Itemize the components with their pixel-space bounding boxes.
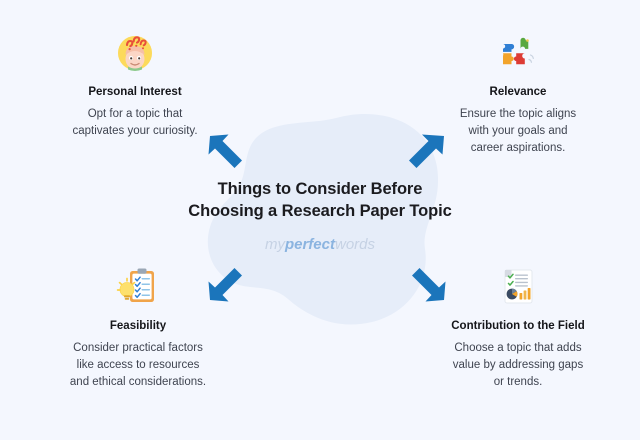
item-feasibility: Feasibility Consider practical factors l… xyxy=(43,262,233,391)
item-desc-line1: Consider practical factors xyxy=(73,342,203,354)
item-title: Relevance xyxy=(423,86,613,100)
item-desc-line2: captivates your curiosity. xyxy=(72,125,197,137)
item-contribution: Contribution to the Field Choose a topic… xyxy=(423,262,613,391)
item-title: Contribution to the Field xyxy=(423,320,613,334)
clipboard-lightbulb-icon xyxy=(114,262,162,310)
item-description: Ensure the topic aligns with your goals … xyxy=(423,106,613,157)
page-title-line1: Things to Consider Before xyxy=(218,180,423,198)
thinking-face-icon xyxy=(111,28,159,76)
page-title-line2: Choosing a Research Paper Topic xyxy=(188,202,451,220)
page-title: Things to Consider Before Choosing a Res… xyxy=(160,178,480,223)
item-description: Choose a topic that adds value by addres… xyxy=(423,340,613,391)
logo-my: my xyxy=(265,236,285,253)
item-desc-line2: with your goals and xyxy=(468,125,567,137)
puzzle-pieces-icon xyxy=(494,28,542,76)
item-desc-line3: and ethical considerations. xyxy=(70,376,206,388)
item-desc-line3: career aspirations. xyxy=(471,142,566,154)
item-desc-line2: like access to resources xyxy=(77,359,200,371)
item-description: Consider practical factors like access t… xyxy=(43,340,233,391)
item-desc-line1: Choose a topic that adds xyxy=(454,342,581,354)
item-desc-line1: Ensure the topic aligns xyxy=(460,108,576,120)
infographic-canvas: Things to Consider Before Choosing a Res… xyxy=(0,0,640,440)
item-title: Feasibility xyxy=(43,320,233,334)
item-relevance: Relevance Ensure the topic aligns with y… xyxy=(423,28,613,157)
center-heading-block: Things to Consider Before Choosing a Res… xyxy=(160,178,480,252)
item-description: Opt for a topic that captivates your cur… xyxy=(40,106,230,140)
item-personal-interest: Personal Interest Opt for a topic that c… xyxy=(40,28,230,140)
logo-perfect: perfect xyxy=(285,236,335,253)
item-title: Personal Interest xyxy=(40,86,230,100)
item-desc-line3: or trends. xyxy=(494,376,543,388)
logo-words: words xyxy=(335,236,375,253)
item-desc-line2: value by addressing gaps xyxy=(453,359,583,371)
report-chart-icon xyxy=(494,262,542,310)
brand-logo: myperfectwords xyxy=(160,237,480,252)
item-desc-line1: Opt for a topic that xyxy=(88,108,183,120)
